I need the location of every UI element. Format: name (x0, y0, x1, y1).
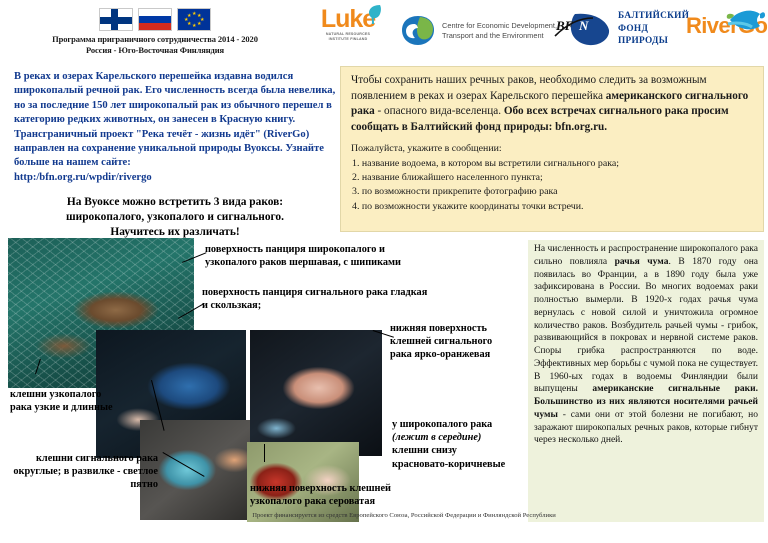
caption-noble-claw-brown: у широкопалого рака (лежит в середине) к… (392, 418, 514, 471)
ely-mark-icon (400, 14, 436, 48)
flag-russia-icon (138, 8, 172, 31)
headline-line2: широкопалого, узкопалого и сигнального. (14, 210, 336, 225)
poster-root: ★★ ★★ ★★ ★★ Программа приграничного сотр… (0, 0, 768, 543)
leader-line-7 (264, 444, 265, 462)
caption-carapace-rough: поверхность панциря широкопалого и узкоп… (205, 243, 435, 269)
caption-c4-italic: (лежит в середине) (392, 432, 481, 443)
program-caption-line1: Программа приграничного сотрудничества 2… (30, 34, 280, 45)
bfn-logo: BF N БАЛТИЙСКИЙ ФОНД ПРИРОДЫ (553, 10, 689, 48)
callout-item-3: 3. по возможности прикрепите фотографию … (351, 185, 753, 199)
bfn-text-line3: ПРИРОДЫ (618, 35, 689, 48)
plague-bold-plague: рачья чума (615, 257, 669, 267)
callout-item-2: 2. название ближайшего населенного пункт… (351, 171, 753, 185)
bfn-text-line2: ФОНД (618, 23, 689, 36)
luke-logo: Luke NATURAL RESOURCES INSTITUTE FINLAND (312, 6, 384, 42)
caption-c4-b: клешни снизу красновато-коричневые (392, 445, 505, 469)
intro-paragraph: В реках и озерах Карельского перешейка и… (14, 71, 335, 168)
program-caption-line2: Россия - Юго-Восточная Финляндия (30, 45, 280, 56)
caption-narrow-claw-grey: нижняя поверхность клешней узкопалого ра… (250, 482, 396, 508)
funding-footer-text: Проект финансируется из средств Европейс… (252, 512, 556, 519)
ely-text-line1: Centre for Economic Development, (442, 21, 557, 31)
plague-text-b: . В 1870 году она появилась во Франции, … (534, 257, 758, 395)
ely-text-line2: Transport and the Environment (442, 31, 557, 41)
rivergo-logo: RiverGo (686, 14, 762, 38)
bfn-leaf-icon: BF N (553, 10, 611, 48)
eu-stars: ★★ ★★ ★★ ★★ (178, 9, 210, 30)
callout-item-1: 1. название водоема, в котором вы встрет… (351, 157, 753, 171)
program-logo-block: ★★ ★★ ★★ ★★ Программа приграничного сотр… (30, 8, 280, 55)
ely-logo: Centre for Economic Development, Transpo… (400, 14, 557, 48)
caption-signal-claws-round: клешни сигнального рака округлые; в разв… (10, 452, 158, 492)
callout-part2: - опасного вида-вселенца. (375, 105, 504, 117)
headline-block: На Вуоксе можно встретить 3 вида раков: … (14, 195, 336, 240)
caption-c4-a: у широкопалого рака (392, 419, 492, 430)
caption-narrow-claws: клешни узкопалого рака узкие и длинные (10, 388, 120, 414)
funding-footer: Проект финансируется из средств Европейс… (0, 512, 768, 519)
crayfish-plague-article: На численность и распространение широкоп… (528, 240, 764, 522)
svg-text:BF: BF (555, 18, 574, 33)
callout-main-text: Чтобы сохранить наших речных раков, необ… (351, 73, 753, 135)
intro-text-block: В реках и озерах Карельского перешейка и… (14, 70, 336, 185)
photo-claw-undersides (250, 330, 382, 456)
rivergo-site-link[interactable]: http:/bfn.org.ru/wpdir/rivergo (14, 172, 152, 183)
flag-eu-icon: ★★ ★★ ★★ ★★ (177, 8, 211, 31)
plague-text-c: - сами они от этой болезни не погибают, … (534, 410, 758, 446)
bfn-text-line1: БАЛТИЙСКИЙ (618, 10, 689, 23)
flag-row: ★★ ★★ ★★ ★★ (30, 8, 280, 31)
callout-item-4: 4. по возможности укажите координаты точ… (351, 200, 753, 214)
bfn-text: БАЛТИЙСКИЙ ФОНД ПРИРОДЫ (618, 10, 689, 48)
headline-line1: На Вуоксе можно встретить 3 вида раков: (14, 195, 336, 210)
callout-lead: Пожалуйста, укажите в сообщении: (351, 142, 753, 156)
caption-signal-claw-orange: нижняя поверхность клешней сигнального р… (390, 322, 508, 362)
header-logos: ★★ ★★ ★★ ★★ Программа приграничного сотр… (0, 0, 768, 68)
flag-finland-icon (99, 8, 133, 31)
caption-carapace-smooth: поверхность панциря сигнального рака гла… (202, 286, 432, 312)
callout-instructions: Пожалуйста, укажите в сообщении: 1. назв… (351, 142, 753, 213)
luke-subtitle-line2: INSTITUTE FINLAND (312, 37, 384, 42)
plague-paragraph: На численность и распространение широкоп… (534, 243, 758, 447)
ely-text: Centre for Economic Development, Transpo… (442, 21, 557, 41)
rivergo-fish-icon (722, 2, 766, 40)
report-callout-box: Чтобы сохранить наших речных раков, необ… (340, 66, 764, 232)
svg-text:N: N (578, 18, 589, 33)
program-caption: Программа приграничного сотрудничества 2… (30, 34, 280, 55)
luke-leaf-icon (363, 3, 385, 25)
